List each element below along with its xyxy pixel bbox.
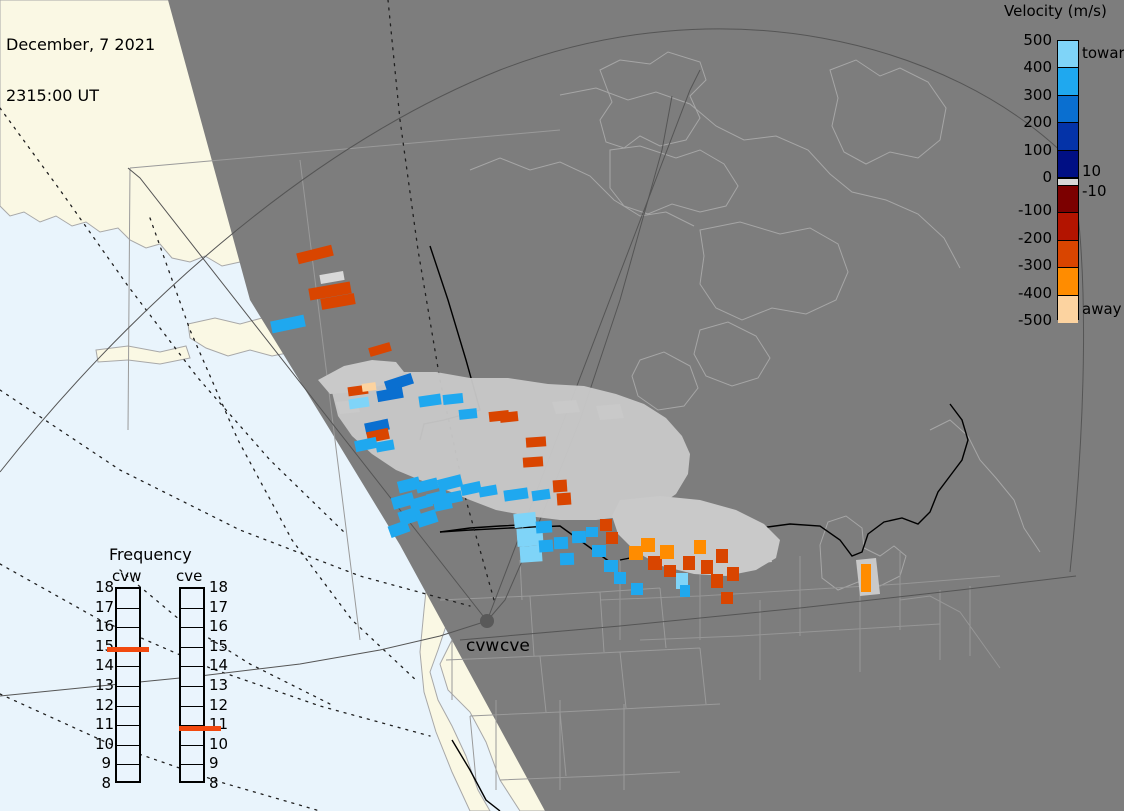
velocity-cell <box>604 560 618 572</box>
colorbar-minus10-label: -10 <box>1082 182 1107 200</box>
velocity-cell <box>459 408 478 420</box>
velocity-cell <box>600 519 612 531</box>
velocity-cell <box>500 411 519 423</box>
frequency-marker-cvw <box>107 647 149 652</box>
velocity-cell <box>554 537 568 549</box>
frequency-legend: Frequency cvw cve 18171615141312111098 1… <box>95 545 230 785</box>
colorbar-gradient-box[interactable] <box>1057 40 1079 320</box>
frequency-tick-right-17: 17 <box>209 598 228 616</box>
frequency-cell <box>117 765 139 785</box>
colorbar-segment-toward-3 <box>1058 123 1078 150</box>
frequency-tick-left-12: 12 <box>95 696 111 714</box>
frequency-tick-left-8: 8 <box>95 774 111 792</box>
colorbar-tick--500: -500 <box>1000 311 1052 329</box>
colorbar-segment-away-4 <box>1058 296 1078 323</box>
velocity-cell <box>513 512 536 528</box>
velocity-cell <box>526 436 547 447</box>
velocity-cell <box>664 565 676 577</box>
frequency-tick-right-8: 8 <box>209 774 219 792</box>
velocity-cell <box>660 545 674 559</box>
frequency-column-label-cvw: cvw <box>112 567 141 585</box>
frequency-tick-right-18: 18 <box>209 578 228 596</box>
colorbar-segment-toward-2 <box>1058 96 1078 123</box>
velocity-cell <box>572 531 586 543</box>
frequency-cell <box>181 746 203 766</box>
colorbar-toward-label: toward <box>1082 44 1124 62</box>
colorbar-segment-toward-0 <box>1058 41 1078 68</box>
frequency-bar-cvw[interactable] <box>115 587 141 783</box>
frequency-tick-right-15: 15 <box>209 637 228 655</box>
velocity-cell <box>721 592 733 604</box>
colorbar-title: Velocity (m/s) <box>1004 2 1107 20</box>
frequency-tick-right-14: 14 <box>209 656 228 674</box>
colorbar-tick-200: 200 <box>1000 113 1052 131</box>
colorbar-tick--300: -300 <box>1000 256 1052 274</box>
velocity-cell <box>536 520 553 533</box>
frequency-cell <box>181 648 203 668</box>
frequency-tick-right-16: 16 <box>209 617 228 635</box>
title-date: December, 7 2021 <box>6 36 155 53</box>
colorbar-tick--400: -400 <box>1000 284 1052 302</box>
frequency-cell <box>117 746 139 766</box>
frequency-cell <box>181 628 203 648</box>
velocity-cell <box>631 583 643 595</box>
frequency-column-label-cve: cve <box>176 567 202 585</box>
frequency-cell <box>181 589 203 609</box>
frequency-tick-right-12: 12 <box>209 696 228 714</box>
velocity-cell <box>641 538 655 552</box>
frequency-cell <box>181 765 203 785</box>
velocity-cell <box>716 549 728 563</box>
colorbar-tick-400: 400 <box>1000 58 1052 76</box>
velocity-cell <box>711 574 723 588</box>
velocity-cell <box>592 545 606 557</box>
frequency-cell <box>181 707 203 727</box>
frequency-cell <box>117 628 139 648</box>
frequency-cell <box>117 707 139 727</box>
velocity-cell <box>443 393 464 405</box>
frequency-cell <box>181 687 203 707</box>
frequency-bar-cve[interactable] <box>179 587 205 783</box>
frequency-tick-left-11: 11 <box>95 715 111 733</box>
colorbar-tick--200: -200 <box>1000 229 1052 247</box>
frequency-tick-right-13: 13 <box>209 676 228 694</box>
colorbar-zero-gap <box>1058 178 1078 186</box>
frequency-tick-left-14: 14 <box>95 656 111 674</box>
colorbar-segment-away-2 <box>1058 241 1078 268</box>
velocity-cell <box>519 545 542 562</box>
frequency-cell <box>117 589 139 609</box>
ground-scatter-speck-4 <box>748 546 772 564</box>
frequency-legend-title: Frequency <box>109 545 192 564</box>
radar-site-marker[interactable] <box>480 614 494 628</box>
superdarn-velocity-map: December, 7 2021 2315:00 UT Velocity (m/… <box>0 0 1124 811</box>
colorbar-tick-500: 500 <box>1000 31 1052 49</box>
frequency-tick-left-9: 9 <box>95 754 111 772</box>
colorbar-tick--100: -100 <box>1000 201 1052 219</box>
title-time: 2315:00 UT <box>6 87 155 104</box>
velocity-cell <box>680 585 690 597</box>
velocity-cell <box>523 456 544 467</box>
frequency-cell <box>117 726 139 746</box>
velocity-cell <box>586 527 598 537</box>
frequency-cell <box>117 667 139 687</box>
velocity-cell <box>557 493 572 506</box>
velocity-cell <box>861 564 871 592</box>
velocity-cell <box>606 532 618 544</box>
velocity-cell <box>701 560 713 574</box>
frequency-tick-right-9: 9 <box>209 754 219 772</box>
frequency-tick-left-17: 17 <box>95 598 111 616</box>
ground-scatter-speck-2 <box>596 404 624 420</box>
velocity-cell <box>614 572 626 584</box>
velocity-cell <box>727 567 739 581</box>
velocity-cell <box>683 556 695 570</box>
radar-label-cvw: cvw <box>466 636 499 656</box>
frequency-cell <box>181 609 203 629</box>
ground-scatter-speck-1 <box>552 400 580 414</box>
frequency-tick-left-10: 10 <box>95 735 111 753</box>
velocity-colorbar: Velocity (m/s) 5004003002001000-100-200-… <box>1000 0 1124 340</box>
velocity-cell <box>560 553 574 565</box>
colorbar-plus10-label: 10 <box>1082 162 1101 180</box>
frequency-cell <box>117 687 139 707</box>
velocity-cell <box>629 546 643 560</box>
colorbar-tick-300: 300 <box>1000 86 1052 104</box>
ground-scatter-speck-3 <box>704 530 730 546</box>
colorbar-tick-100: 100 <box>1000 141 1052 159</box>
colorbar-segment-away-3 <box>1058 268 1078 295</box>
frequency-tick-left-16: 16 <box>95 617 111 635</box>
colorbar-segment-toward-4 <box>1058 151 1078 178</box>
frequency-marker-cve <box>179 726 221 731</box>
velocity-cell <box>694 540 706 554</box>
velocity-cell <box>648 556 662 570</box>
velocity-cell <box>553 480 568 493</box>
frequency-cell <box>117 609 139 629</box>
colorbar-segment-away-1 <box>1058 213 1078 240</box>
velocity-cell <box>539 540 554 553</box>
frequency-tick-left-18: 18 <box>95 578 111 596</box>
frequency-tick-left-13: 13 <box>95 676 111 694</box>
radar-label-cve: cve <box>500 636 530 656</box>
colorbar-tick-0: 0 <box>1000 168 1052 186</box>
colorbar-segment-toward-1 <box>1058 68 1078 95</box>
colorbar-away-label: away <box>1082 300 1122 318</box>
frequency-cell <box>181 667 203 687</box>
colorbar-segment-away-0 <box>1058 186 1078 213</box>
timestamp-title: December, 7 2021 2315:00 UT <box>6 2 155 138</box>
frequency-tick-right-10: 10 <box>209 735 228 753</box>
